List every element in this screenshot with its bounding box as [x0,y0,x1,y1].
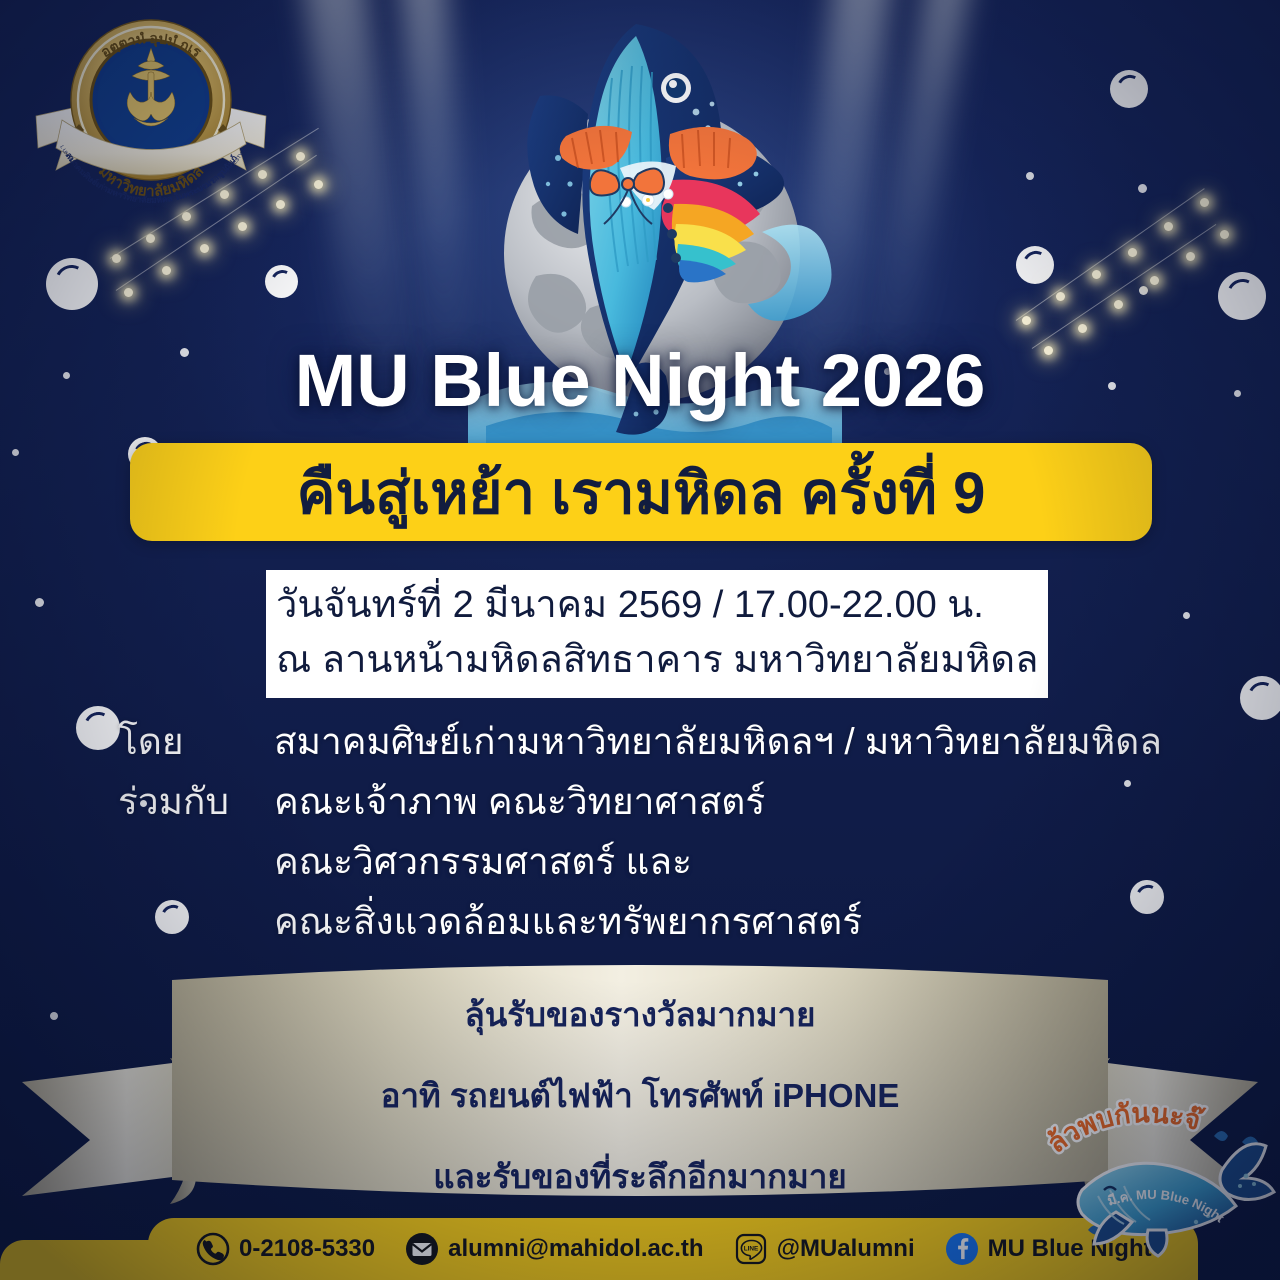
vignette-overlay [0,0,1280,1280]
poster-root: อตฺตานํ อุปมํ กเร มหาวิทยาลัยมหิดล สมาคม… [0,0,1280,1280]
